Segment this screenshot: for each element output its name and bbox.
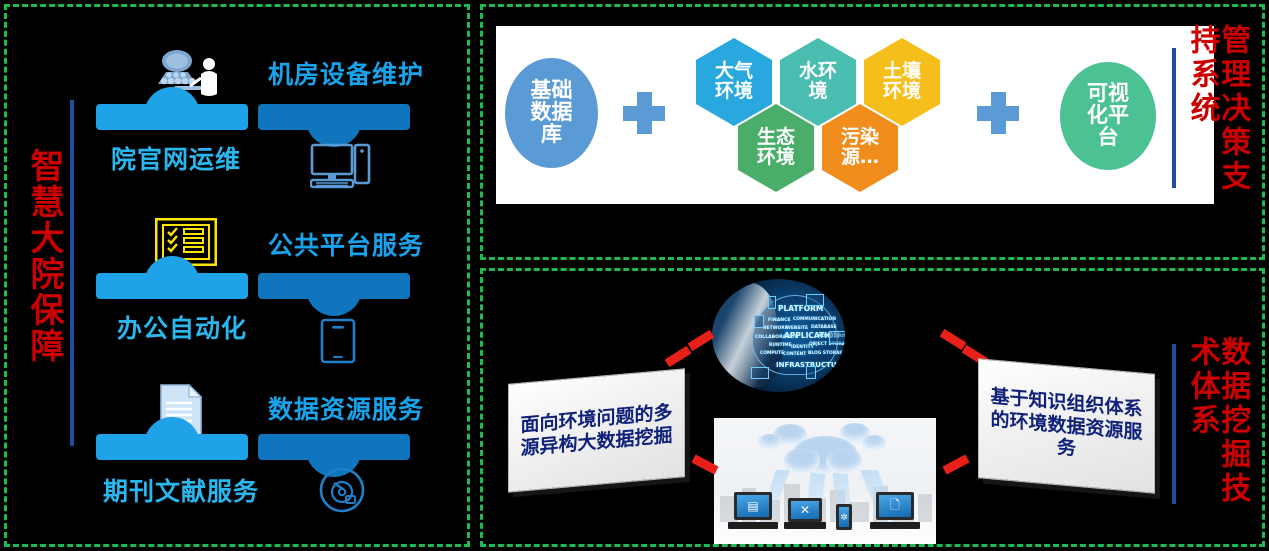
cloud-word-content: CONTENT — [783, 352, 806, 357]
tools-icon: ✕ — [791, 501, 819, 519]
hex-water-label: 水环境 — [796, 62, 840, 102]
top-right-divider — [1172, 48, 1176, 188]
cloud-computing-photo: PLATFORM FINANCE COMMUNICATION NETWORK W… — [712, 279, 845, 392]
cloud-word-runtime: RUNTIME — [769, 343, 792, 348]
laptop-tools-device: ✕ — [788, 498, 822, 522]
bottom-right-divider — [1172, 344, 1176, 504]
plus-icon — [623, 92, 665, 134]
left-row1-right-label: 机房设备维护 — [268, 55, 424, 91]
left-row3-right-bar — [258, 434, 410, 460]
cloud-puff — [862, 435, 886, 451]
laptop-base — [784, 522, 826, 529]
phone-device-glyph — [768, 296, 776, 309]
visualization-platform-label: 可视化平台 — [1079, 83, 1137, 148]
cloud-word-communication: COMMUNICATION — [793, 317, 836, 322]
cloud-puff-main — [784, 448, 820, 474]
hex-pollution-source: 污染源… — [822, 104, 898, 192]
callout-right: 基于知识组织体系的环境数据资源服务 — [978, 358, 1155, 493]
left-row2-left-bar — [96, 273, 248, 299]
document-icon: 🗋 — [879, 495, 911, 517]
doc-device-glyph — [806, 366, 816, 379]
cloud-puff — [758, 434, 782, 450]
hex-pollution-label: 污染源… — [838, 128, 882, 168]
database-icon: ▤ — [737, 495, 769, 517]
left-panel-vertical-title: 智慧大院保障 — [14, 148, 62, 364]
cloud-puff-main — [826, 448, 862, 474]
cloud-word-finance: FINANCE — [768, 318, 791, 323]
top-right-vertical-title: 管理决策支持系统 — [1186, 24, 1247, 200]
hex-ecology: 生态环境 — [738, 104, 814, 192]
left-row1-right-bar — [258, 104, 410, 130]
disc-media-icon — [318, 466, 366, 519]
callout-right-text: 基于知识组织体系的环境数据资源服务 — [991, 386, 1143, 467]
laptop-device-glyph — [806, 294, 824, 306]
left-panel-divider — [70, 100, 74, 446]
cloud-word-database: DATABASE — [811, 325, 837, 330]
hex-water: 水环境 — [780, 38, 856, 126]
plus-icon-2 — [977, 92, 1019, 134]
top-right-title-text: 管理决策支持系统 — [1186, 24, 1247, 200]
desktop-document-device: 🗋 — [876, 492, 914, 520]
desktop-keyboard — [728, 522, 778, 529]
left-row1-left-bar — [96, 104, 248, 130]
tablet-device-glyph — [754, 315, 764, 328]
diagram-canvas: 智慧大院保障 院官网运维 机房设备维护 — [0, 0, 1269, 551]
cloud-word-compute: COMPUTE — [760, 351, 784, 356]
callout-left: 面向环境问题的多源异构大数据挖掘 — [508, 368, 685, 492]
cloud-services-illustration: ▤ ✕ ✲ 🗋 — [714, 418, 936, 544]
left-row3-left-label: 期刊文献服务 — [103, 472, 259, 508]
left-row2-right-bar — [258, 273, 410, 299]
callout-left-text: 面向环境问题的多源异构大数据挖掘 — [521, 401, 673, 459]
visualization-platform-ellipse: 可视化平台 — [1060, 62, 1156, 170]
hex-soil-label: 土壤环境 — [880, 62, 924, 102]
server-rack-glyph — [751, 367, 769, 379]
hexagon-group: 大气环境 水环境 土壤环境 生态环境 污染源… — [690, 30, 920, 200]
mobile-gear-icon: ✲ — [839, 507, 849, 527]
base-database-label: 基础数据库 — [523, 80, 581, 145]
desktop-keyboard-2 — [870, 522, 920, 529]
bottom-right-vertical-title: 数据挖掘技术体系 — [1186, 336, 1247, 512]
monitor-device-glyph — [829, 331, 845, 344]
hex-atmosphere-label: 大气环境 — [712, 62, 756, 102]
left-row2-left-label: 办公自动化 — [117, 309, 247, 345]
hex-atmosphere: 大气环境 — [696, 38, 772, 126]
bottom-right-title-text: 数据挖掘技术体系 — [1186, 336, 1247, 512]
left-row1-left-label: 院官网运维 — [111, 140, 241, 176]
desktop-computer-icon — [310, 142, 372, 195]
left-row3-left-bar — [96, 434, 248, 460]
left-row2-right-label: 公共平台服务 — [268, 226, 424, 262]
tablet-device-icon — [320, 318, 356, 371]
hex-ecology-label: 生态环境 — [754, 128, 798, 168]
mobile-gear-device: ✲ — [836, 504, 852, 530]
cloud-word-blog-storage: BLOG STORAGE — [808, 351, 845, 356]
base-database-ellipse: 基础数据库 — [505, 58, 598, 168]
desktop-database-device: ▤ — [734, 492, 772, 520]
left-row3-right-label: 数据资源服务 — [268, 390, 424, 426]
